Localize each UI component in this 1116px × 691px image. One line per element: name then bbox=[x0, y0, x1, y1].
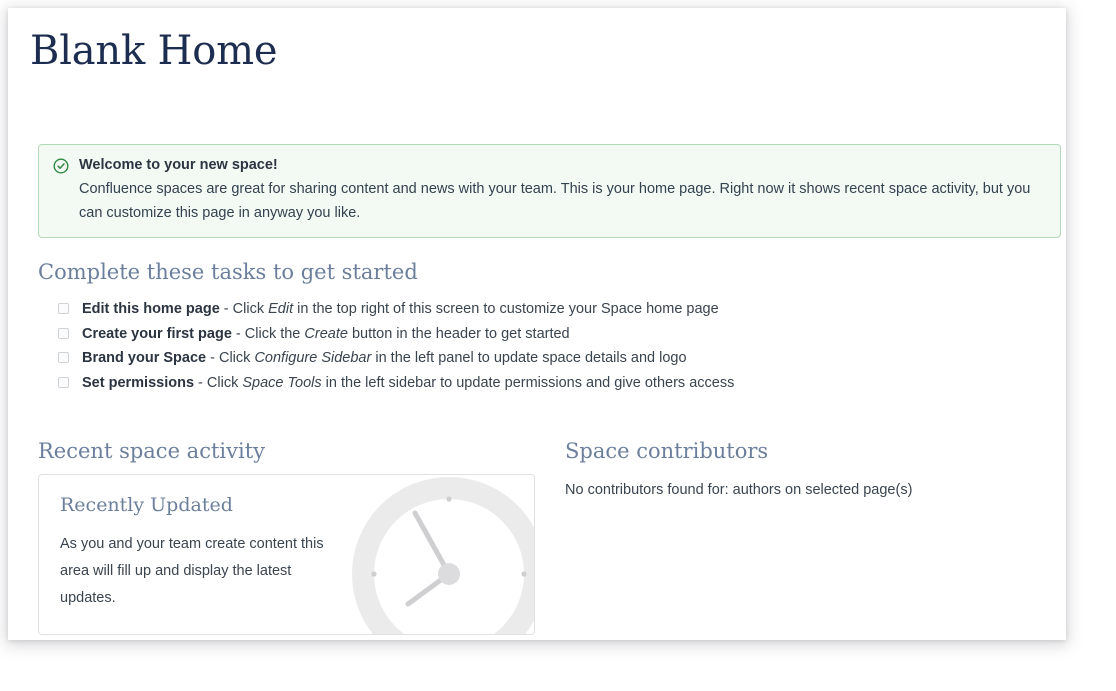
task-emphasis: Configure Sidebar bbox=[254, 350, 371, 366]
page-inner: Blank Home bbox=[30, 14, 1052, 76]
space-contributors-empty-text: No contributors found for: authors on se… bbox=[565, 479, 912, 501]
task-checkbox[interactable] bbox=[58, 328, 69, 339]
recently-updated-title: Recently Updated bbox=[60, 493, 514, 517]
task-item: Create your first page - Click the Creat… bbox=[38, 322, 1038, 346]
task-text: Create your first page - Click the Creat… bbox=[82, 322, 1038, 346]
task-separator: - Click bbox=[194, 375, 242, 391]
task-tail: in the top right of this screen to custo… bbox=[293, 301, 719, 317]
task-tail: in the left panel to update space detail… bbox=[371, 350, 686, 366]
task-label: Create your first page bbox=[82, 326, 232, 342]
task-label: Brand your Space bbox=[82, 350, 206, 366]
task-separator: - Click bbox=[220, 301, 268, 317]
task-emphasis: Space Tools bbox=[242, 375, 321, 391]
welcome-banner-body: Welcome to your new space! Confluence sp… bbox=[79, 156, 1048, 225]
recently-updated-text: As you and your team create content this… bbox=[60, 531, 340, 612]
welcome-banner-title: Welcome to your new space! bbox=[79, 156, 1048, 175]
task-text: Set permissions - Click Space Tools in t… bbox=[82, 371, 1038, 395]
task-list: Edit this home page - Click Edit in the … bbox=[38, 297, 1038, 395]
check-circle-icon bbox=[53, 158, 69, 174]
screenshot-root: Blank Home Welcome to your new space! Co… bbox=[0, 0, 1116, 691]
welcome-banner-text: Confluence spaces are great for sharing … bbox=[79, 177, 1048, 225]
welcome-banner: Welcome to your new space! Confluence sp… bbox=[38, 144, 1061, 238]
task-item: Brand your Space - Click Configure Sideb… bbox=[38, 346, 1038, 370]
task-separator: - Click the bbox=[232, 326, 305, 342]
task-emphasis: Edit bbox=[268, 301, 293, 317]
task-label: Set permissions bbox=[82, 375, 194, 391]
task-separator: - Click bbox=[206, 350, 254, 366]
task-tail: in the left sidebar to update permission… bbox=[322, 375, 735, 391]
task-text: Edit this home page - Click Edit in the … bbox=[82, 297, 1038, 321]
task-checkbox[interactable] bbox=[58, 303, 69, 314]
space-contributors-heading: Space contributors bbox=[565, 438, 768, 464]
task-checkbox[interactable] bbox=[58, 377, 69, 388]
task-label: Edit this home page bbox=[82, 301, 220, 317]
tasks-heading: Complete these tasks to get started bbox=[38, 259, 418, 285]
task-text: Brand your Space - Click Configure Sideb… bbox=[82, 346, 1038, 370]
recently-updated-body: Recently Updated As you and your team cr… bbox=[39, 475, 534, 612]
recent-space-activity-heading: Recent space activity bbox=[38, 438, 265, 464]
task-emphasis: Create bbox=[304, 326, 348, 342]
content-page-panel: Blank Home Welcome to your new space! Co… bbox=[8, 8, 1066, 640]
task-tail: button in the header to get started bbox=[348, 326, 570, 342]
task-item: Set permissions - Click Space Tools in t… bbox=[38, 371, 1038, 395]
page-title: Blank Home bbox=[30, 14, 1052, 76]
task-checkbox[interactable] bbox=[58, 352, 69, 363]
task-item: Edit this home page - Click Edit in the … bbox=[38, 297, 1038, 321]
recently-updated-card: Recently Updated As you and your team cr… bbox=[38, 474, 535, 635]
